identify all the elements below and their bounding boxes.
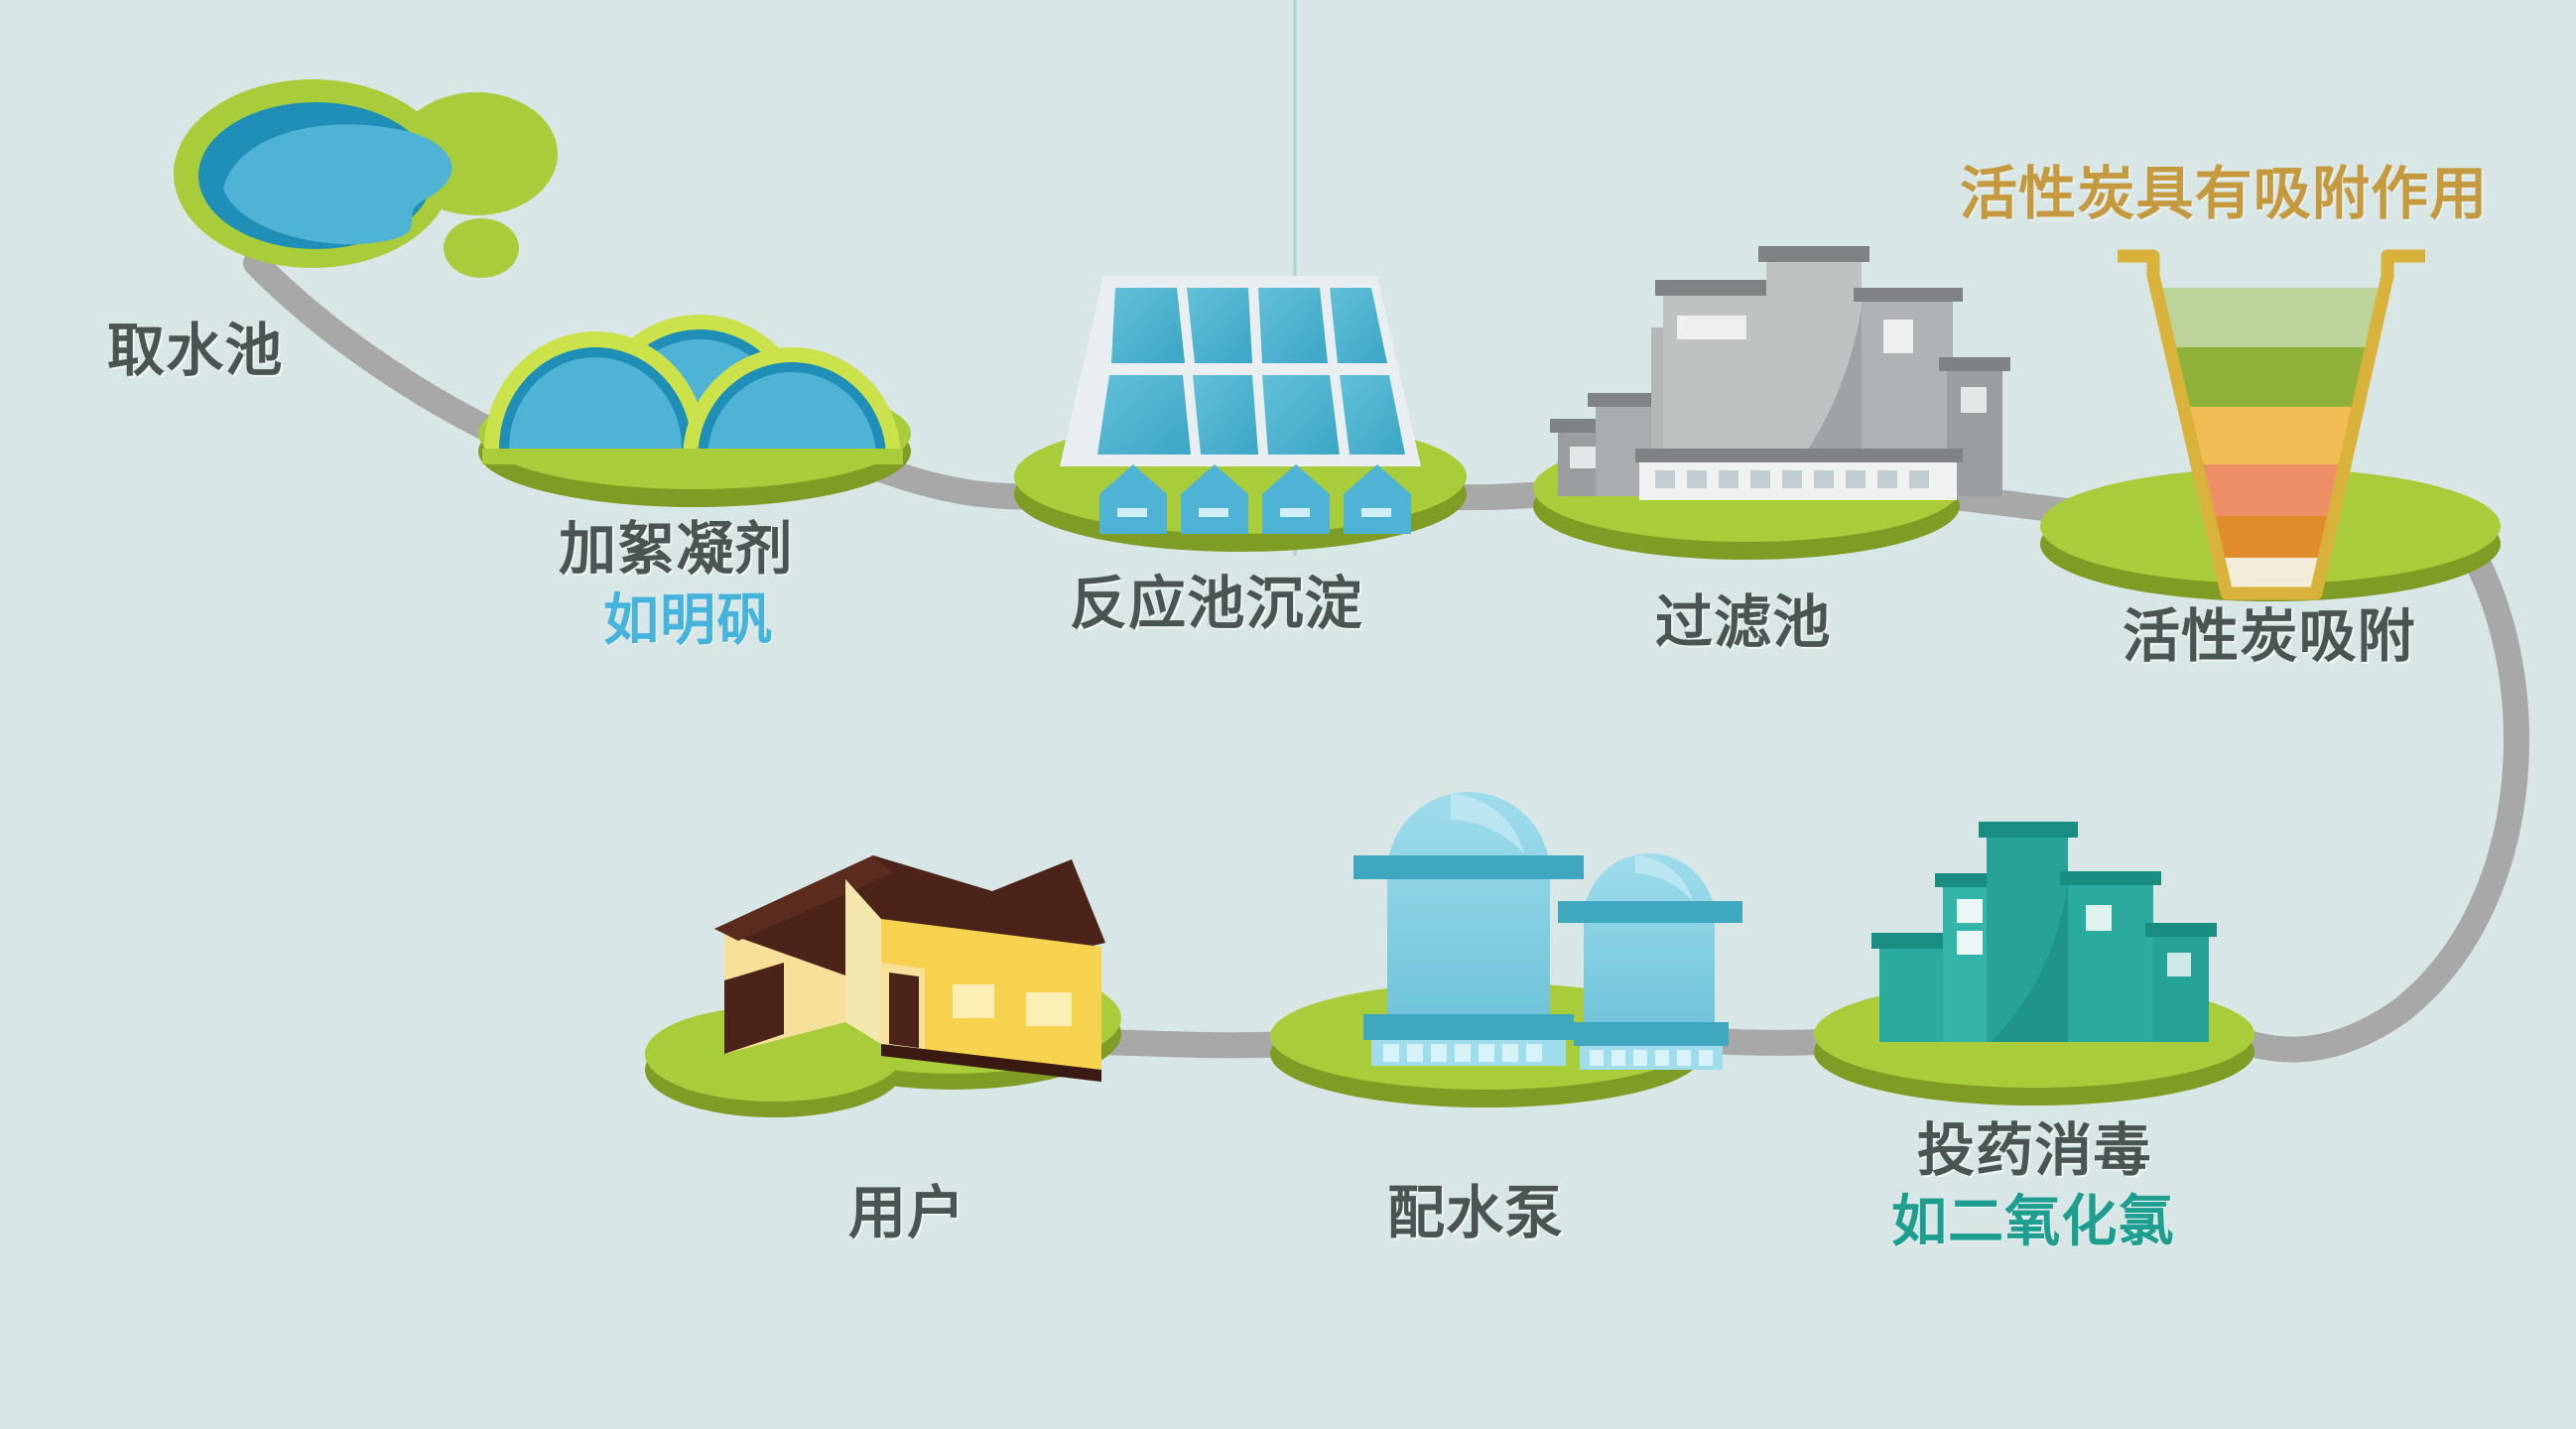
sedimentation-basin-icon	[1014, 276, 1467, 552]
activated-carbon-funnel-icon	[2040, 256, 2501, 601]
stage-label-distribution-pump: 配水泵	[1387, 1166, 1563, 1249]
carbon-adsorption-annotation: 活性炭具有吸附作用	[1960, 147, 2488, 230]
stage-label-filter-pool: 过滤池	[1655, 576, 1831, 659]
filtration-plant-icon	[1533, 246, 2010, 560]
pipe-pump-to-users	[1101, 1042, 1290, 1045]
stage-sublabel-flocculant: 如明矾	[603, 576, 773, 656]
stage-label-sedimentation: 反应池沉淀	[1070, 557, 1363, 640]
stage-label-flocculant: 加絮凝剂	[559, 502, 794, 585]
disinfection-plant-icon	[1814, 822, 2254, 1105]
stage-label-carbon-adsorption: 活性炭吸附	[2123, 589, 2416, 673]
stage-label-disinfection: 投药消毒	[1917, 1104, 2152, 1187]
user-house-icon	[645, 855, 1121, 1117]
diagram-canvas: 活性炭具有吸附作用 取水池 加絮凝剂 如明矾 反应池沉淀 过滤池 活性炭吸附 投…	[0, 0, 2576, 1429]
stage-sublabel-disinfection: 如二氧化氯	[1891, 1177, 2175, 1257]
distribution-pump-icon	[1270, 792, 1742, 1107]
water-intake-pool-icon	[174, 79, 558, 278]
flocculant-domes-icon	[478, 315, 911, 507]
stage-label-intake-pool: 取水池	[107, 304, 283, 387]
stage-label-users: 用户	[848, 1166, 966, 1249]
